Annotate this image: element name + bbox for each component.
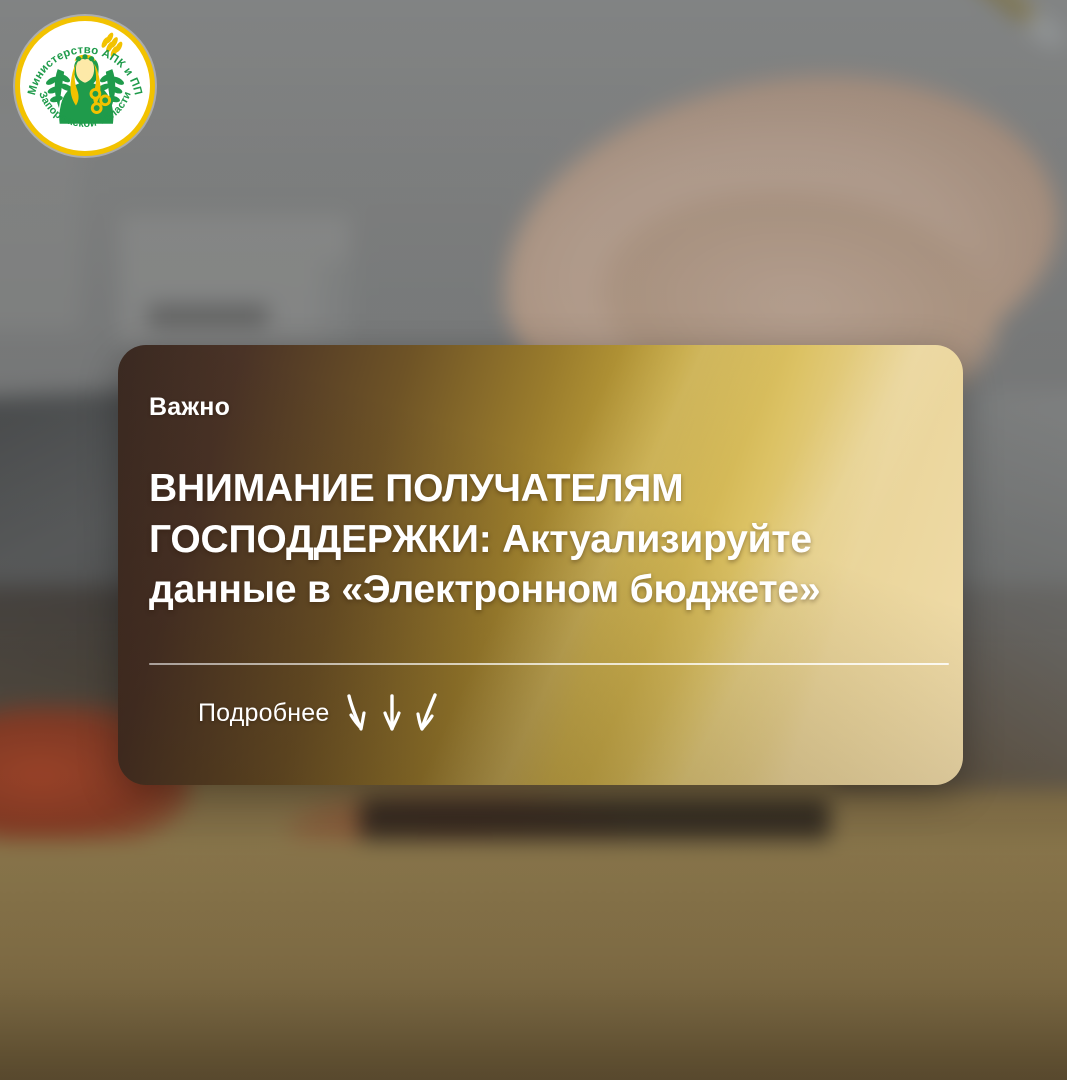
down-arrow-straight-icon — [381, 693, 403, 733]
headline-line-3: данные в «Электронном бюджете» — [149, 565, 923, 616]
poster-canvas: Министерство АПК и ПП Запорожской област… — [0, 0, 1067, 1080]
arrow-group — [343, 693, 441, 733]
down-arrow-left-slanted-icon — [343, 693, 369, 733]
more-row[interactable]: Подробнее — [198, 693, 441, 733]
card-kicker: Важно — [149, 393, 923, 422]
headline-line-2: ГОСПОДДЕРЖКИ: Актуализируйте — [149, 515, 923, 566]
ministry-logo: Министерство АПК и ПП Запорожской област… — [15, 16, 155, 156]
card-headline: ВНИМАНИЕ ПОЛУЧАТЕЛЯМ ГОСПОДДЕРЖКИ: Актуа… — [149, 464, 923, 616]
headline-line-1: ВНИМАНИЕ ПОЛУЧАТЕЛЯМ — [149, 464, 923, 515]
more-label[interactable]: Подробнее — [198, 699, 329, 728]
down-arrow-right-slanted-icon — [415, 693, 441, 733]
card-divider — [149, 663, 949, 665]
announcement-card: Важно ВНИМАНИЕ ПОЛУЧАТЕЛЯМ ГОСПОДДЕРЖКИ:… — [118, 345, 963, 785]
